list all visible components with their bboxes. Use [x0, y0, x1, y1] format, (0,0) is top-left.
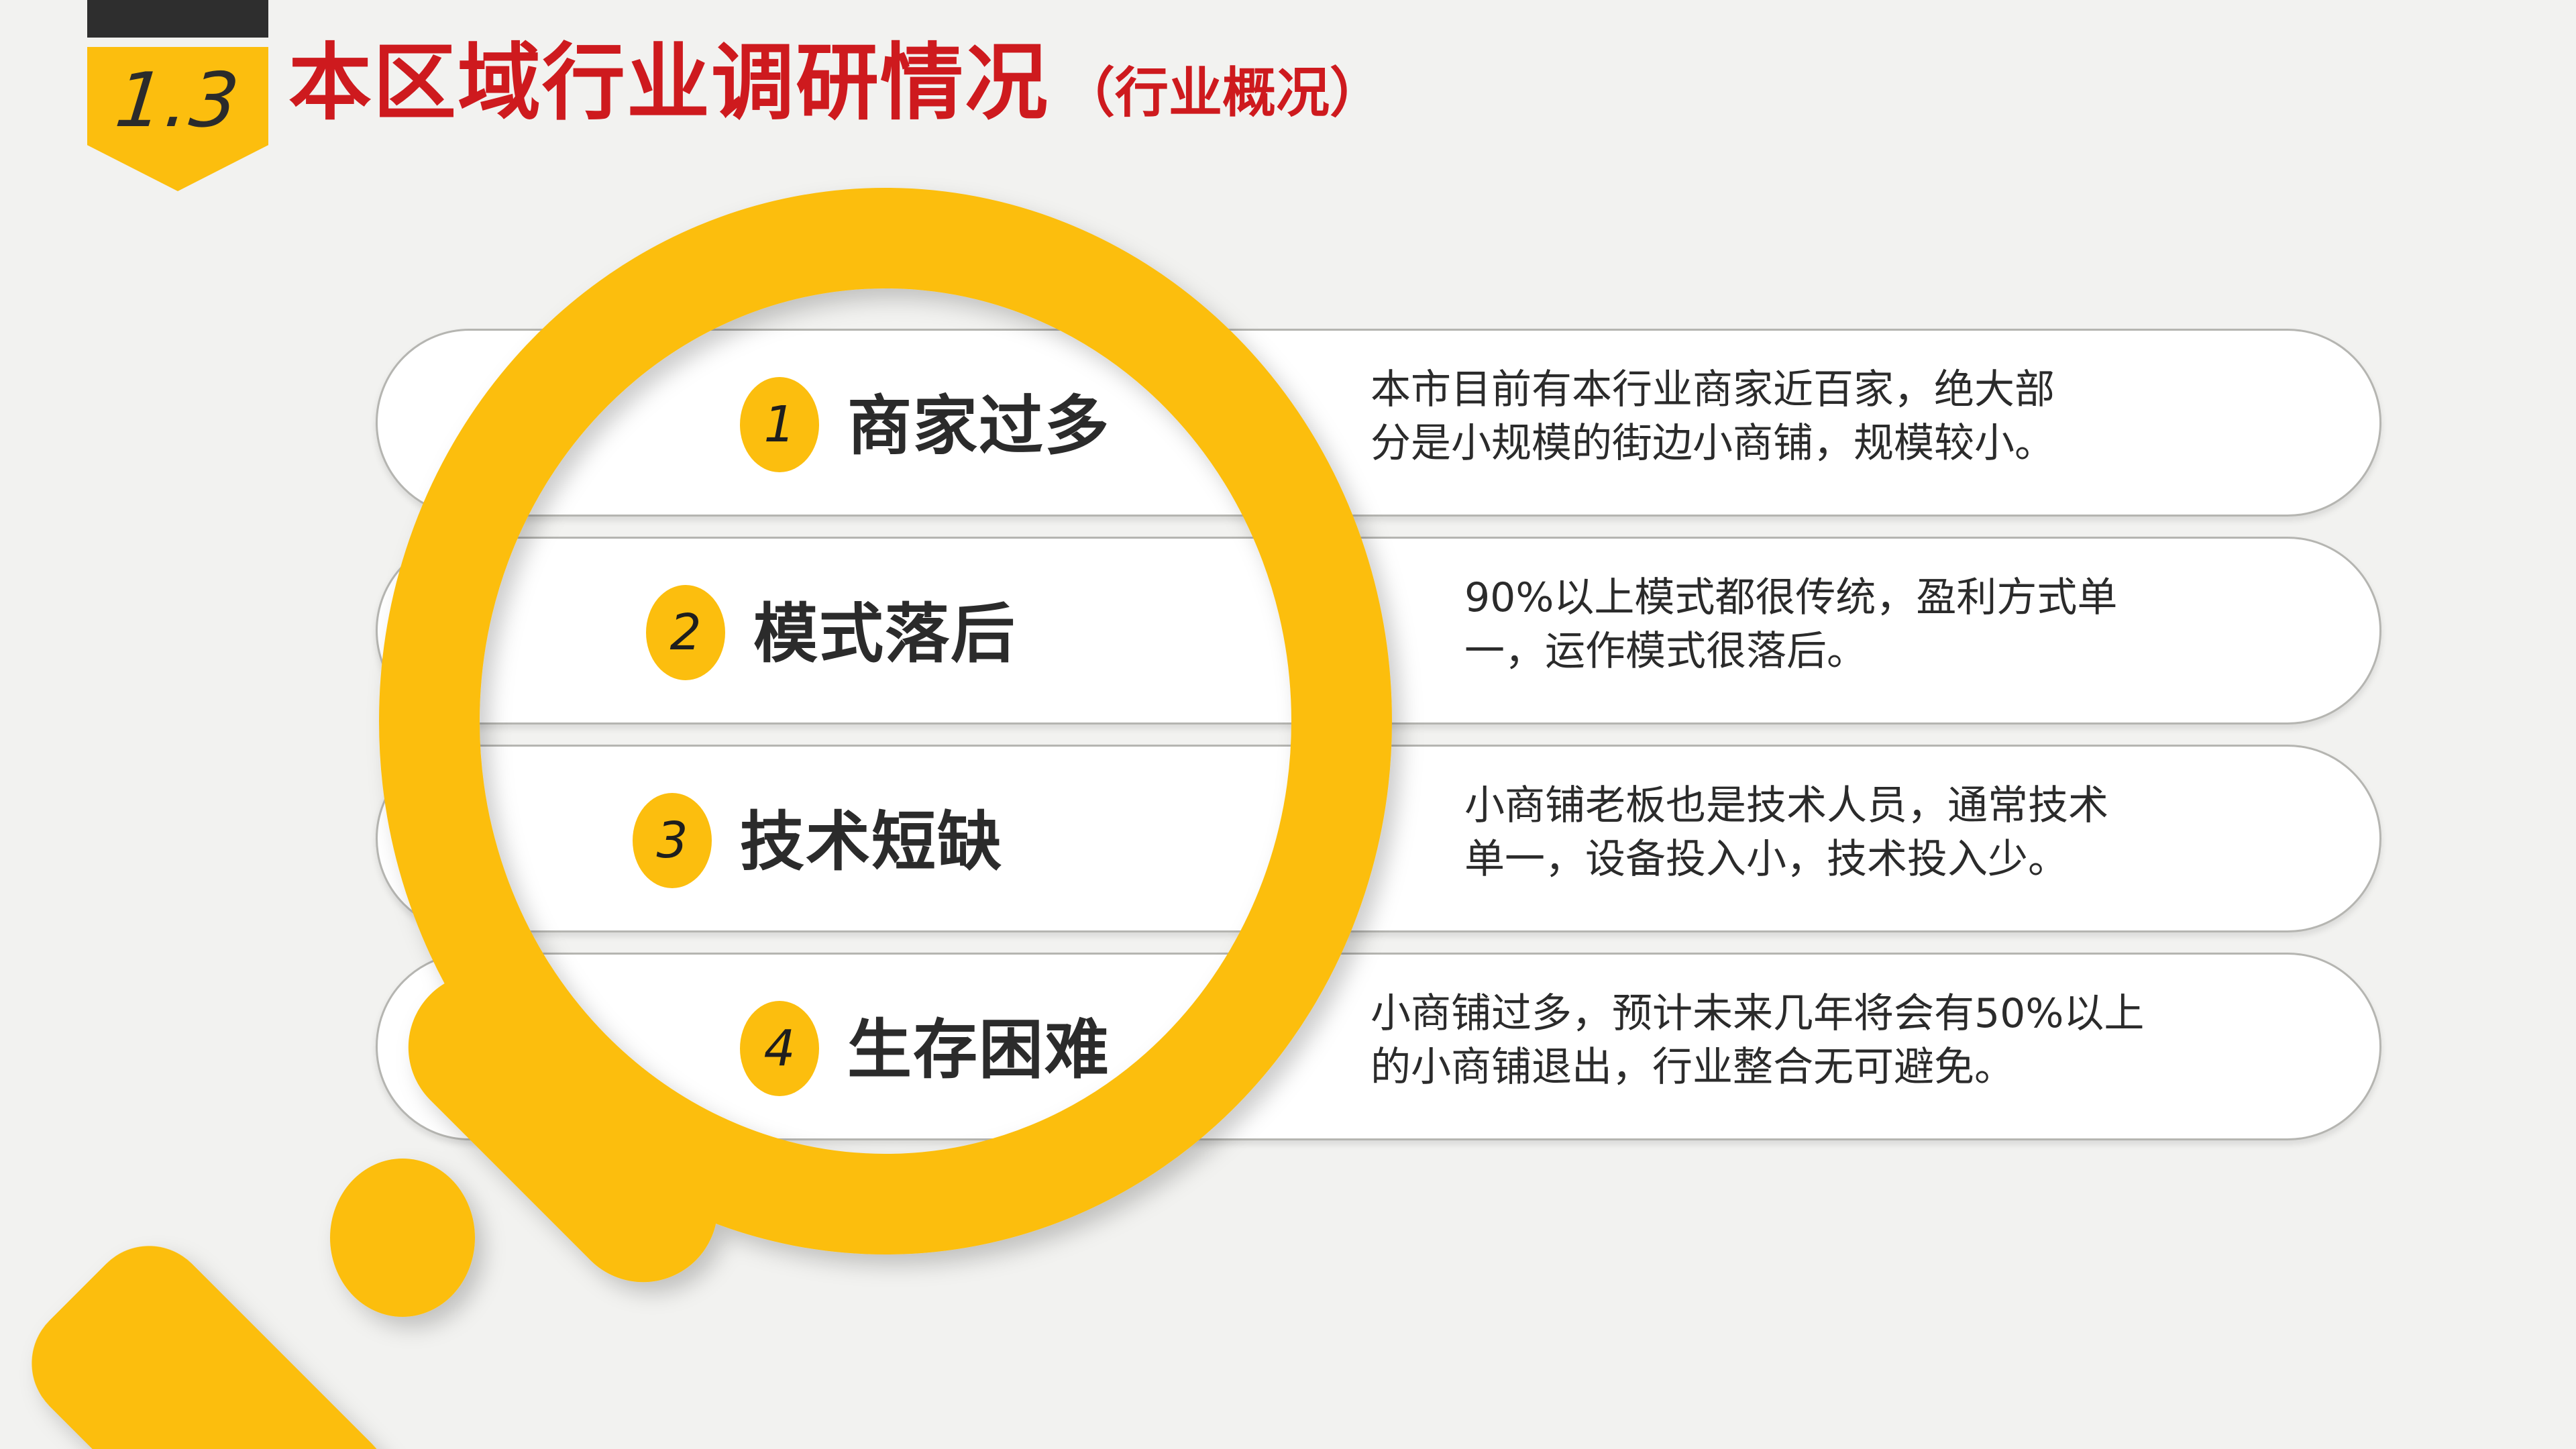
- item-description: 本市目前有本行业商家近百家，绝大部 分是小规模的街边小商铺，规模较小。: [1371, 363, 2055, 471]
- item-description: 小商铺过多，预计未来几年将会有50%以上 的小商铺退出，行业整合无可避免。: [1371, 987, 2144, 1095]
- list-item[interactable]: 4 生存困难 小商铺过多，预计未来几年将会有50%以上 的小商铺退出，行业整合无…: [376, 953, 2381, 1140]
- list-item[interactable]: 1 商家过多 本市目前有本行业商家近百家，绝大部 分是小规模的街边小商铺，规模较…: [376, 329, 2381, 517]
- item-headline: 商家过多: [847, 374, 1110, 467]
- item-number-badge: 1: [740, 377, 819, 472]
- item-description: 小商铺老板也是技术人员，通常技术 单一，设备投入小，技术投入少。: [1464, 779, 2108, 887]
- list-item[interactable]: 3 技术短缺 小商铺老板也是技术人员，通常技术 单一，设备投入小，技术投入少。: [376, 745, 2381, 932]
- item-number-badge: 3: [633, 793, 712, 888]
- item-headline: 技术短缺: [740, 790, 1003, 883]
- slide-canvas: 1.3 本区域行业调研情况 （行业概况） 1 商家过多 本市目前有本行业商家近百…: [0, 0, 2576, 1449]
- item-headline: 生存困难: [847, 998, 1110, 1091]
- content-rows: 1 商家过多 本市目前有本行业商家近百家，绝大部 分是小规模的街边小商铺，规模较…: [0, 0, 2576, 1449]
- item-headline: 模式落后: [753, 582, 1016, 675]
- item-description: 90%以上模式都很传统，盈利方式单 一，运作模式很落后。: [1464, 571, 2117, 679]
- item-number-badge: 2: [646, 585, 725, 680]
- list-item[interactable]: 2 模式落后 90%以上模式都很传统，盈利方式单 一，运作模式很落后。: [376, 537, 2381, 724]
- item-number-badge: 4: [740, 1001, 819, 1096]
